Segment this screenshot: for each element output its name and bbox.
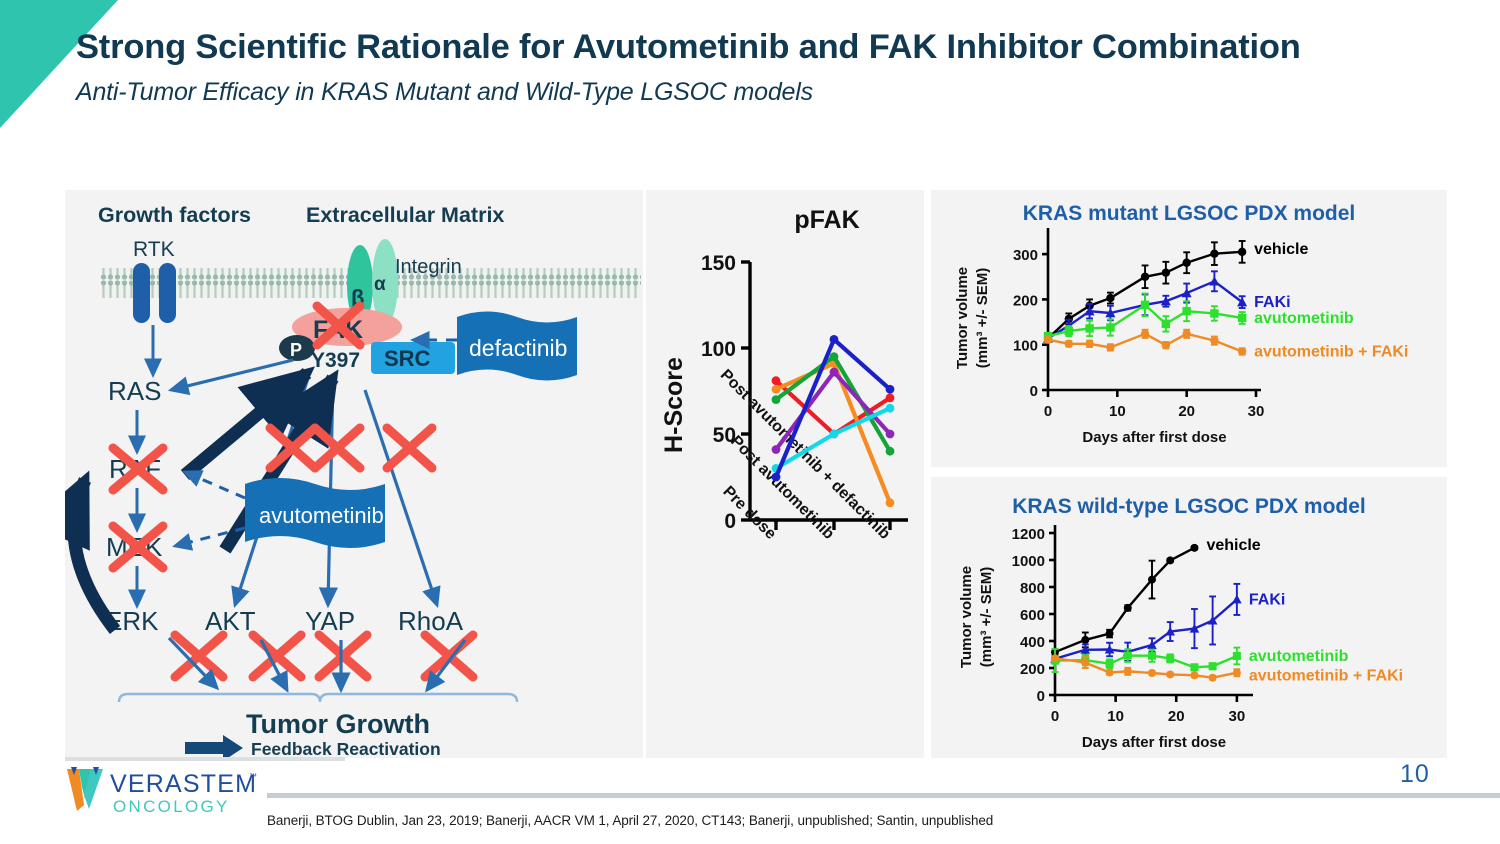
data-point [1085, 324, 1093, 332]
data-point [1209, 662, 1217, 670]
kras-wildtype-chart-title: KRAS wild-type LGSOC PDX model [1012, 495, 1366, 518]
kras-wildtype-y-tick-label: 1000 [1012, 553, 1045, 570]
kras-wildtype-series-line [1055, 599, 1237, 658]
pfak-data-point [772, 385, 781, 394]
data-point [1106, 668, 1114, 676]
kras-wildtype-legend-1: FAKi [1249, 591, 1285, 608]
kras-mutant-x-tick-label: 10 [1109, 403, 1126, 420]
data-point [1065, 340, 1073, 348]
pfak-y-tick-label: 0 [724, 510, 736, 533]
data-point [1233, 652, 1241, 660]
feedback-legend-label: Feedback Reactivation [251, 739, 441, 758]
data-point [1210, 249, 1218, 257]
data-point [1141, 301, 1149, 309]
data-point [1232, 595, 1242, 604]
kras-wildtype-x-axis-label: Days after first dose [1082, 734, 1226, 751]
pfak-data-point [772, 473, 781, 482]
data-point [1124, 667, 1132, 675]
avutometinib-inhibit-raf [185, 472, 245, 498]
pfak-chart-svg: pFAK050100150H-ScorePre dosePost avutome… [646, 190, 924, 758]
pfak-data-point [772, 376, 781, 385]
data-point [1209, 276, 1219, 285]
footer-divider [267, 793, 1500, 798]
node-label-y397: Y397 [311, 349, 360, 372]
tumor-growth-label: Tumor Growth [246, 709, 430, 739]
tumor-growth-brace [119, 694, 517, 702]
rtk-receptor-left [133, 263, 150, 323]
kras-wildtype-chart-panel: KRAS wild-type LGSOC PDX model0200400600… [931, 477, 1447, 758]
kras-wildtype-x-tick-label: 0 [1051, 708, 1059, 725]
pfak-data-point [886, 447, 895, 456]
kras-wildtype-series [1051, 544, 1198, 656]
kras-mutant-x-axis-label: Days after first dose [1082, 429, 1226, 446]
node-label-ras: RAS [108, 376, 161, 406]
node-label-src: SRC [384, 346, 431, 371]
data-point [1209, 674, 1217, 682]
data-point [1162, 268, 1170, 276]
kras-mutant-y-axis-label-1: Tumor volume [954, 267, 971, 369]
pfak-data-point [886, 404, 895, 413]
pfak-data-point [772, 445, 781, 454]
data-point [1238, 347, 1246, 355]
kras-wildtype-x-tick-label: 20 [1168, 708, 1185, 725]
pfak-chart-panel: pFAK050100150H-ScorePre dosePost avutome… [646, 190, 924, 758]
kras-wildtype-chart-svg: KRAS wild-type LGSOC PDX model0200400600… [931, 477, 1447, 758]
data-point [1182, 259, 1190, 267]
pathway-diagram-svg: Growth factors Extracellular Matrix RTK … [65, 190, 643, 758]
kras-wildtype-legend-3: avutometinib + FAKi [1249, 668, 1403, 685]
logo-mark [67, 767, 103, 811]
data-point [1148, 652, 1156, 660]
data-point [1210, 309, 1218, 317]
rtk-receptor-right [159, 263, 176, 323]
arrow-fak-to-ras [171, 360, 293, 390]
data-point [1106, 343, 1114, 351]
kras-mutant-legend-3: avutometinib + FAKi [1254, 344, 1408, 361]
data-point [1190, 544, 1198, 552]
node-label-phospho: P [290, 340, 302, 360]
kras-mutant-legend-0: vehicle [1254, 241, 1308, 258]
data-point [1166, 670, 1174, 678]
verastem-oncology-logo: VERASTEM ™ ONCOLOGY [63, 765, 283, 817]
page-subtitle: Anti-Tumor Efficacy in KRAS Mutant and W… [76, 78, 1456, 107]
kras-wildtype-series [1050, 584, 1241, 663]
data-point [1182, 330, 1190, 338]
data-point [1051, 654, 1059, 662]
drug-label-defactinib: defactinib [469, 335, 567, 361]
node-label-alpha: α [374, 274, 386, 295]
logo-wordmark: VERASTEM [110, 770, 257, 798]
kras-mutant-x-tick-label: 0 [1044, 403, 1052, 420]
node-label-akt: AKT [205, 606, 256, 636]
pathway-header-growth-factors: Growth factors [98, 203, 251, 227]
kras-wildtype-x-tick-label: 30 [1229, 708, 1246, 725]
kras-wildtype-legend-0: vehicle [1206, 537, 1260, 554]
pfak-data-point [886, 498, 895, 507]
pfak-data-point [830, 352, 839, 361]
data-point [1148, 576, 1156, 584]
data-point [1106, 660, 1114, 668]
logo-trademark: ™ [249, 772, 257, 781]
data-point [1044, 336, 1052, 344]
pfak-data-point [830, 335, 839, 344]
pfak-y-axis-label: H-Score [660, 357, 688, 453]
node-label-integrin: Integrin [395, 256, 462, 278]
data-point [1182, 307, 1190, 315]
data-point [1148, 669, 1156, 677]
data-point [1190, 663, 1198, 671]
data-point [1190, 671, 1198, 679]
slide-root: Strong Scientific Rationale for Avutomet… [0, 0, 1500, 844]
data-point [1124, 604, 1132, 612]
kras-wildtype-y-axis-label-2: (mm³ +/- SEM) [978, 567, 995, 667]
kras-wildtype-y-tick-label: 600 [1020, 607, 1045, 624]
node-label-rtk: RTK [133, 238, 175, 261]
kras-wildtype-y-tick-label: 0 [1037, 688, 1045, 705]
pfak-data-point [772, 395, 781, 404]
data-point [1141, 273, 1149, 281]
pfak-data-point [886, 393, 895, 402]
data-point [1081, 636, 1089, 644]
kras-mutant-y-tick-label: 100 [1013, 338, 1038, 355]
data-point [1210, 336, 1218, 344]
data-point [1141, 330, 1149, 338]
citation-text: Banerji, BTOG Dublin, Jan 23, 2019; Bane… [267, 813, 993, 828]
pathway-diagram-panel: Growth factors Extracellular Matrix RTK … [65, 190, 643, 758]
data-point [1106, 294, 1114, 302]
kras-mutant-legend-2: avutometinib [1254, 310, 1354, 327]
page-title: Strong Scientific Rationale for Avutomet… [76, 28, 1456, 67]
pfak-y-tick-label: 100 [701, 338, 736, 361]
kras-mutant-x-tick-label: 20 [1178, 403, 1195, 420]
drug-label-avutometinib: avutometinib [259, 503, 384, 528]
kras-wildtype-series-line [1055, 548, 1194, 652]
data-point [1238, 248, 1246, 256]
kras-wildtype-y-tick-label: 400 [1020, 634, 1045, 651]
kras-mutant-y-axis-label-2: (mm³ +/- SEM) [974, 268, 991, 368]
logo-divider [65, 757, 345, 761]
feedback-legend: Feedback Reactivation [185, 735, 441, 758]
pathway-header-ecm: Extracellular Matrix [306, 203, 504, 227]
kras-wildtype-y-tick-label: 800 [1020, 580, 1045, 597]
pfak-data-point [886, 430, 895, 439]
data-point [1166, 556, 1174, 564]
pfak-x-category-label: Post avutometinib [727, 433, 837, 543]
kras-wildtype-y-axis-label-1: Tumor volume [958, 566, 975, 668]
node-label-rhoa: RhoA [398, 606, 464, 636]
kras-mutant-chart-title: KRAS mutant LGSOC PDX model [1023, 202, 1356, 225]
data-point [1081, 659, 1089, 667]
kras-wildtype-x-tick-label: 10 [1107, 708, 1124, 725]
kras-wildtype-y-tick-label: 200 [1020, 661, 1045, 678]
pfak-y-tick-label: 150 [701, 252, 736, 275]
pfak-data-point [886, 385, 895, 394]
kras-mutant-legend-1: FAKi [1254, 294, 1290, 311]
kras-mutant-y-tick-label: 0 [1030, 383, 1038, 400]
data-point [1166, 654, 1174, 662]
logo-tagline: ONCOLOGY [113, 797, 230, 816]
kras-mutant-chart-svg: KRAS mutant LGSOC PDX model0100200300010… [931, 190, 1447, 467]
data-point [1065, 327, 1073, 335]
kras-mutant-y-tick-label: 300 [1013, 247, 1038, 264]
data-point [1085, 340, 1093, 348]
kras-mutant-series [1044, 330, 1247, 356]
data-point [1106, 323, 1114, 331]
data-point [1238, 314, 1246, 322]
kras-mutant-y-tick-label: 200 [1013, 292, 1038, 309]
data-point [1162, 341, 1170, 349]
kras-mutant-chart-panel: KRAS mutant LGSOC PDX model0100200300010… [931, 190, 1447, 467]
kras-wildtype-legend-2: avutometinib [1249, 648, 1349, 665]
data-point [1106, 630, 1114, 638]
pfak-data-point [830, 430, 839, 439]
node-label-yap: YAP [305, 606, 355, 636]
data-point [1162, 320, 1170, 328]
kras-wildtype-y-tick-label: 1200 [1012, 526, 1045, 543]
pfak-data-point [830, 368, 839, 377]
data-point [1233, 669, 1241, 677]
kras-mutant-x-tick-label: 30 [1248, 403, 1265, 420]
data-point [1124, 652, 1132, 660]
page-number: 10 [1400, 760, 1430, 789]
pfak-chart-title: pFAK [794, 206, 859, 234]
